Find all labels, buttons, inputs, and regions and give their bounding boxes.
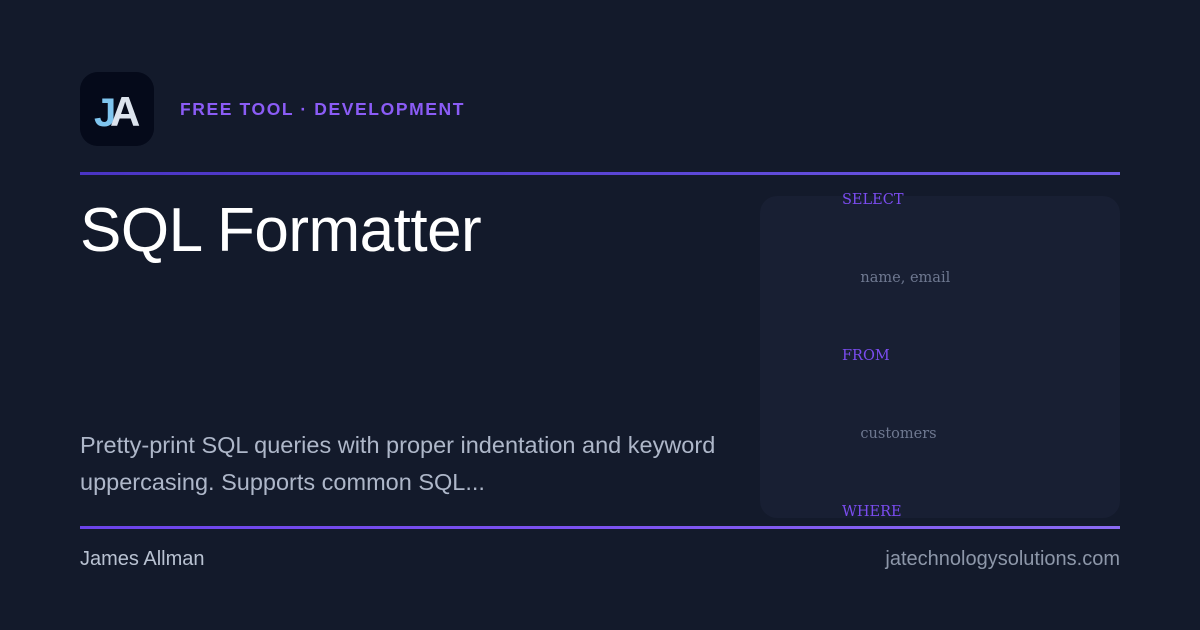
divider-bottom — [80, 526, 1120, 529]
footer-website: jatechnologysolutions.com — [885, 548, 1120, 571]
sql-value: name, email — [842, 270, 950, 286]
sql-keyword: SELECT — [842, 192, 904, 208]
sql-keyword: WHERE — [842, 504, 902, 520]
sql-code-block: SELECT name, email FROM customers WHERE — [842, 136, 950, 577]
divider-top — [80, 172, 1120, 175]
svg-text:A: A — [110, 88, 140, 135]
ja-logo-icon: J A — [80, 72, 154, 146]
code-line: SELECT — [842, 188, 950, 214]
page-title: SQL Formatter — [80, 198, 730, 264]
code-line: customers — [842, 422, 950, 448]
header: J A FREE TOOL · DEVELOPMENT — [80, 72, 465, 146]
page-description: Pretty-print SQL queries with proper ind… — [80, 427, 730, 500]
footer-author: James Allman — [80, 548, 205, 571]
code-preview-card: SELECT name, email FROM customers WHERE — [760, 196, 1120, 518]
code-line: FROM — [842, 344, 950, 370]
sql-keyword: FROM — [842, 348, 890, 364]
footer: James Allman jatechnologysolutions.com — [80, 548, 1120, 571]
sql-value: customers — [842, 426, 937, 442]
body-area: SQL Formatter Pretty-print SQL queries w… — [80, 196, 1120, 518]
eyebrow-label: FREE TOOL · DEVELOPMENT — [180, 99, 465, 120]
code-line: WHERE — [842, 500, 950, 526]
code-line: name, email — [842, 266, 950, 292]
og-card: J A FREE TOOL · DEVELOPMENT SQL Formatte… — [0, 0, 1200, 630]
text-column: SQL Formatter Pretty-print SQL queries w… — [80, 196, 730, 518]
